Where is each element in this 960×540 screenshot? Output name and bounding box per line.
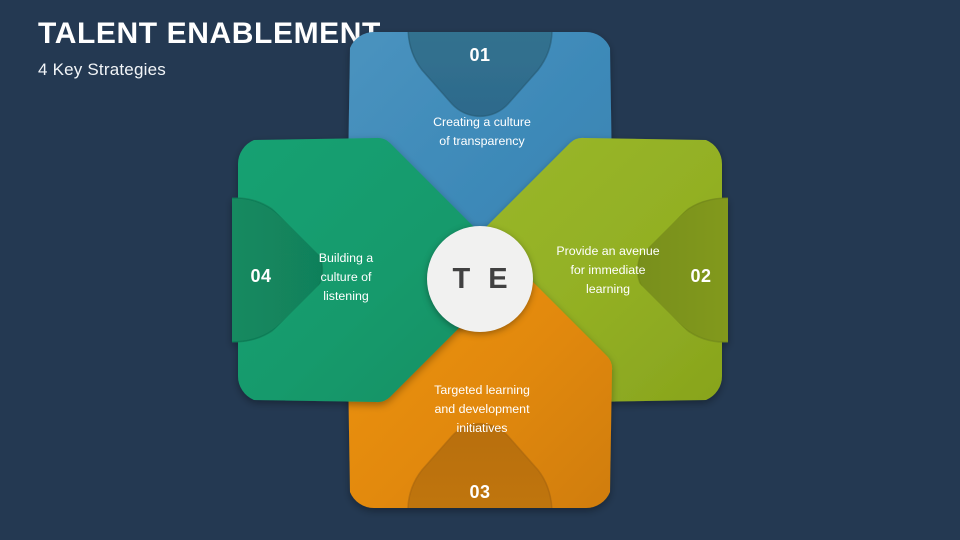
slide-canvas: TALENT ENABLEMENT 4 Key Strategies <box>0 0 960 540</box>
center-badge: T E <box>427 226 533 332</box>
center-badge-label: T E <box>447 265 512 294</box>
